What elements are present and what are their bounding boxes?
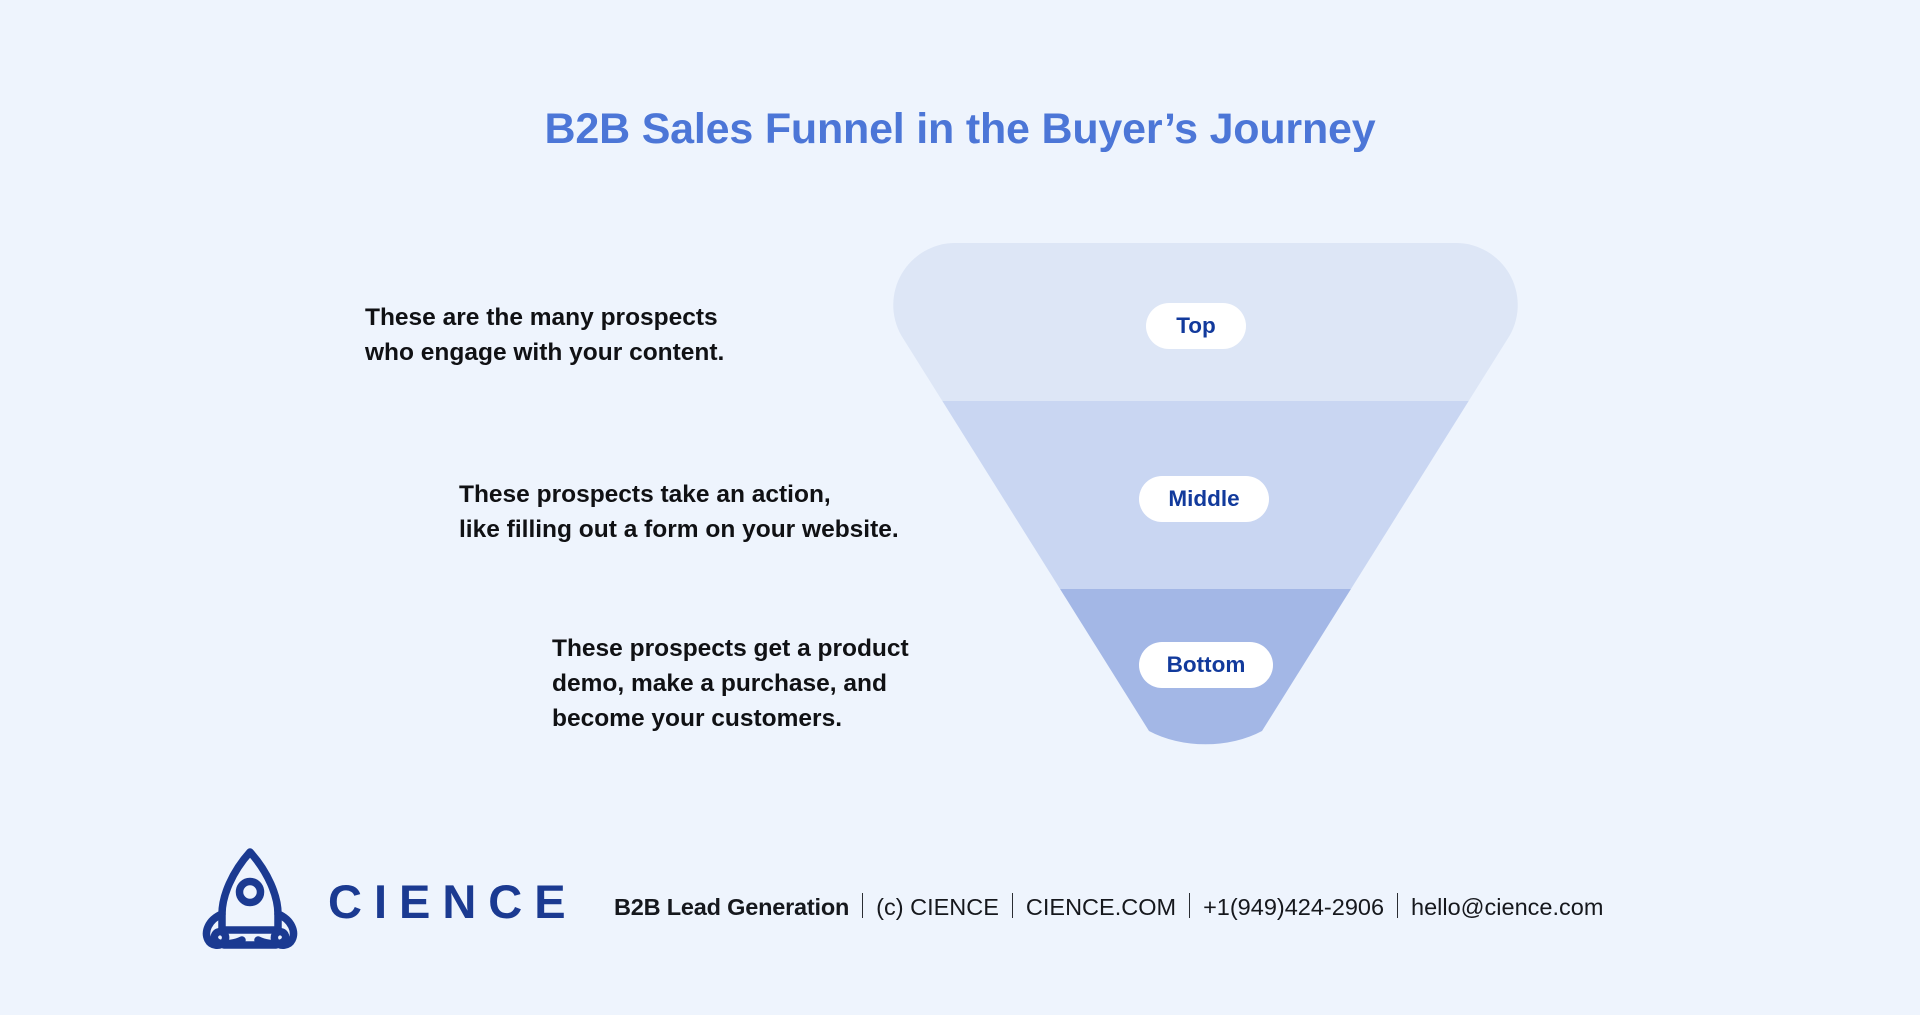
footer-separator-1 — [862, 893, 863, 918]
rocket-icon — [198, 844, 302, 956]
description-top-line-2: who engage with your content. — [365, 335, 724, 370]
footer-tagline: B2B Lead Generation — [614, 894, 849, 921]
funnel-stage-label-bottom[interactable]: Bottom — [1139, 642, 1273, 688]
description-bottom: These prospects get a product demo, make… — [552, 631, 909, 736]
funnel-stage-label-middle[interactable]: Middle — [1139, 476, 1269, 522]
infographic-canvas: B2B Sales Funnel in the Buyer’s Journey … — [0, 0, 1920, 1015]
description-bottom-line-3: become your customers. — [552, 701, 909, 736]
footer-email[interactable]: hello@cience.com — [1411, 894, 1603, 921]
footer-copyright: (c) CIENCE — [876, 894, 999, 921]
cience-logo[interactable]: CIENCE — [198, 844, 578, 956]
description-middle-line-1: These prospects take an action, — [459, 477, 899, 512]
footer-separator-2 — [1012, 893, 1013, 918]
footer-info: B2B Lead Generation (c) CIENCE CIENCE.CO… — [614, 890, 1603, 921]
footer-website[interactable]: CIENCE.COM — [1026, 894, 1176, 921]
footer-phone[interactable]: +1(949)424-2906 — [1203, 894, 1384, 921]
description-top-line-1: These are the many prospects — [365, 300, 724, 335]
funnel-stage-label-top[interactable]: Top — [1146, 303, 1246, 349]
footer-separator-3 — [1189, 893, 1190, 918]
description-bottom-line-1: These prospects get a product — [552, 631, 909, 666]
description-top: These are the many prospects who engage … — [365, 300, 724, 370]
description-middle: These prospects take an action, like fil… — [459, 477, 899, 547]
page-title: B2B Sales Funnel in the Buyer’s Journey — [0, 105, 1920, 154]
footer: CIENCE B2B Lead Generation (c) CIENCE CI… — [0, 832, 1920, 967]
footer-separator-4 — [1397, 893, 1398, 918]
description-middle-line-2: like filling out a form on your website. — [459, 512, 899, 547]
description-bottom-line-2: demo, make a purchase, and — [552, 666, 909, 701]
logo-wordmark: CIENCE — [328, 875, 578, 925]
